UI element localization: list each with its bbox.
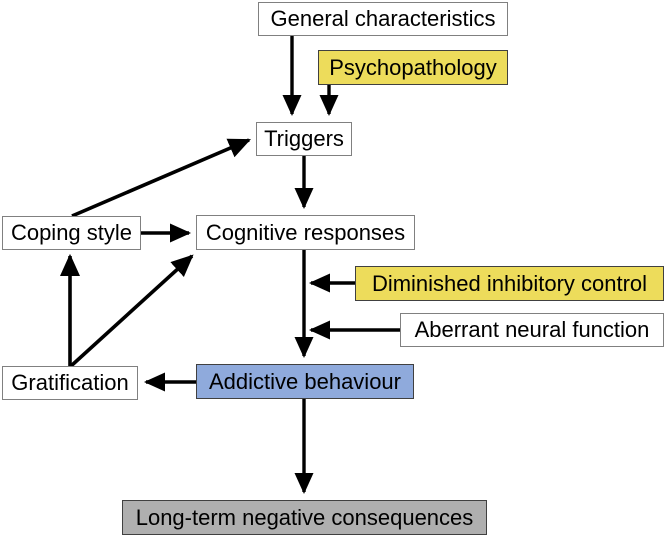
node-psychopathology-label: Psychopathology bbox=[323, 57, 503, 79]
node-cognitive-responses-label: Cognitive responses bbox=[200, 222, 411, 244]
node-cognitive-responses[interactable]: Cognitive responses bbox=[196, 215, 415, 250]
node-general-characteristics[interactable]: General characteristics bbox=[258, 2, 508, 36]
node-aberrant-neural-function[interactable]: Aberrant neural function bbox=[400, 313, 664, 347]
node-addictive-behaviour[interactable]: Addictive behaviour bbox=[196, 364, 414, 399]
node-diminished-inhibitory-control-label: Diminished inhibitory control bbox=[366, 273, 653, 295]
edge-coping-style-to-triggers bbox=[72, 140, 249, 216]
node-coping-style[interactable]: Coping style bbox=[2, 216, 141, 250]
node-triggers-label: Triggers bbox=[258, 128, 350, 150]
node-gratification[interactable]: Gratification bbox=[2, 366, 138, 400]
node-long-term-negative-consequences[interactable]: Long-term negative consequences bbox=[122, 500, 487, 535]
node-long-term-negative-consequences-label: Long-term negative consequences bbox=[130, 507, 480, 529]
node-gratification-label: Gratification bbox=[5, 372, 134, 394]
node-psychopathology[interactable]: Psychopathology bbox=[318, 50, 508, 85]
node-general-characteristics-label: General characteristics bbox=[265, 8, 502, 30]
node-coping-style-label: Coping style bbox=[5, 222, 138, 244]
node-diminished-inhibitory-control[interactable]: Diminished inhibitory control bbox=[355, 266, 664, 301]
node-addictive-behaviour-label: Addictive behaviour bbox=[203, 371, 407, 393]
flowchart-diagram: General characteristics Psychopathology … bbox=[0, 0, 666, 540]
edge-gratification-to-cognitive-responses bbox=[71, 256, 192, 366]
node-triggers[interactable]: Triggers bbox=[256, 122, 352, 156]
node-aberrant-neural-function-label: Aberrant neural function bbox=[409, 319, 656, 341]
